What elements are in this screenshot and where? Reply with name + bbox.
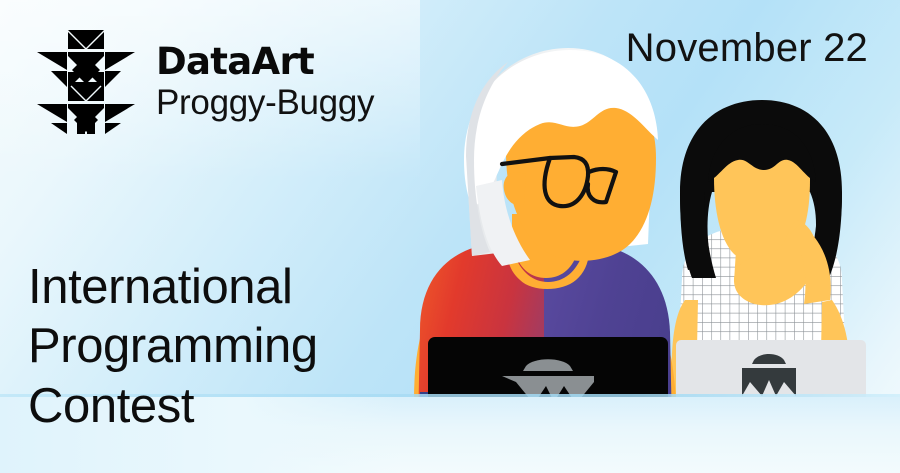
headline-line-2: Programming <box>28 317 318 376</box>
product-name: Proggy-Buggy <box>156 85 374 120</box>
headline-line-3: Contest <box>28 377 318 436</box>
person-right-group <box>668 100 874 434</box>
brand-name: DataArt <box>156 43 374 80</box>
headline-line-1: International <box>28 258 318 317</box>
person-left-group <box>414 48 676 440</box>
event-date: November 22 <box>626 26 868 71</box>
dataart-logo[interactable]: DataArt Proggy-Buggy <box>33 26 374 136</box>
dataart-tangram-logo-icon <box>33 26 139 136</box>
logo-wordmark: DataArt Proggy-Buggy <box>156 43 374 120</box>
person-left-ear <box>504 172 526 205</box>
page-title: International Programming Contest <box>28 258 318 436</box>
poster-canvas: DataArt Proggy-Buggy November 22 Interna… <box>0 0 900 473</box>
